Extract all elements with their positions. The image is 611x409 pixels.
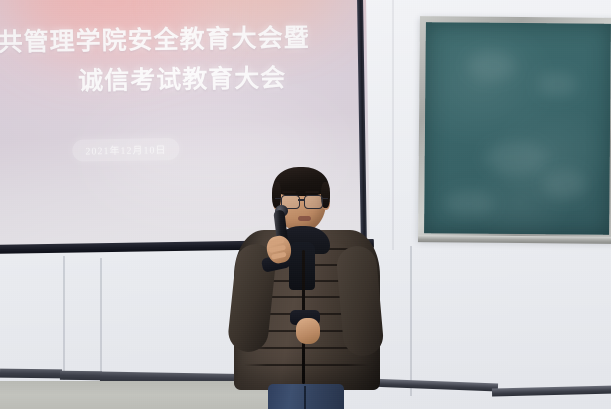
chalk-smudge-4 <box>542 169 586 199</box>
quilt-seam <box>244 364 370 366</box>
wall-seam-right <box>410 246 412 396</box>
glasses-temple-left <box>275 198 282 199</box>
baseboard-mid <box>60 371 102 381</box>
slide-date-badge: 2021年12月10日 <box>72 138 179 162</box>
mouth <box>298 216 311 221</box>
wall-seam-upper-right <box>392 0 394 250</box>
blackboard-frame <box>418 16 611 242</box>
speaker <box>232 168 382 409</box>
chalk-smudge-3 <box>485 141 547 176</box>
chalk-smudge-2 <box>537 71 577 97</box>
glasses-bridge <box>298 199 304 201</box>
baseboard-left <box>0 369 62 379</box>
lecture-hall-photo: 共管理学院安全教育大会暨 诚信考试教育大会 2021年12月10日 <box>0 0 611 409</box>
trouser-seam <box>304 386 306 409</box>
finger <box>271 252 287 260</box>
chalk-smudge-1 <box>467 51 515 81</box>
wall-seam-mid <box>100 258 102 380</box>
slide-title-line-1: 共管理学院安全教育大会暨 <box>0 23 345 59</box>
blackboard-surface <box>424 22 611 235</box>
glasses-temple-right <box>321 198 328 199</box>
wall-seam-left <box>63 256 65 380</box>
slide-title-line-2: 诚信考试教育大会 <box>0 63 370 99</box>
chalk-smudge-5 <box>444 190 494 216</box>
trousers <box>268 384 344 409</box>
hand-lower <box>296 318 320 344</box>
